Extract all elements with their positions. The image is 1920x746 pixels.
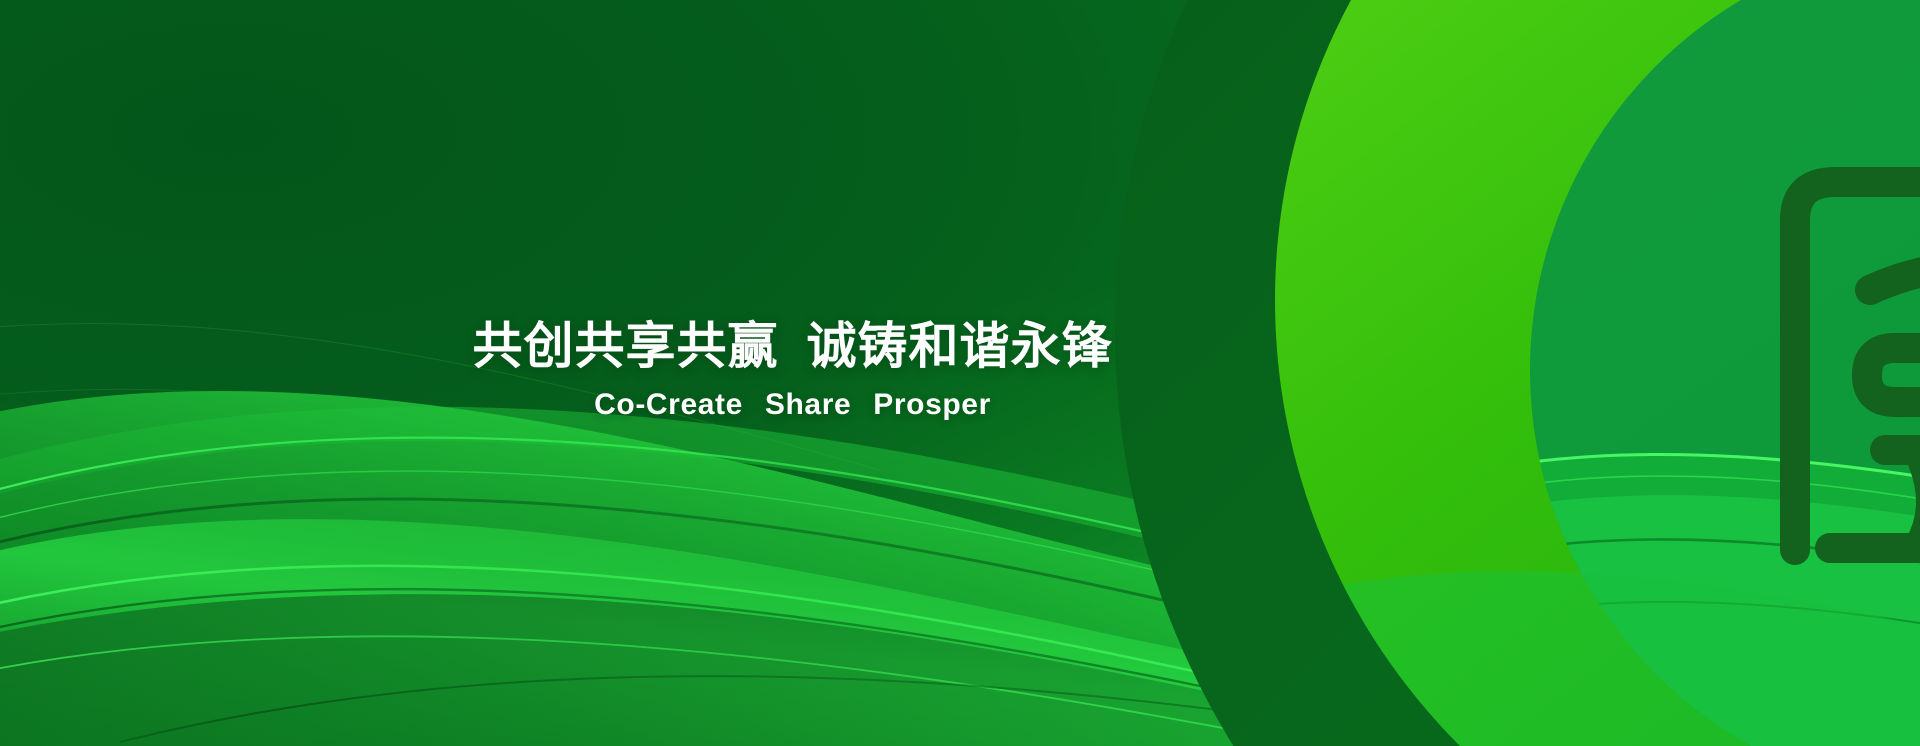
headline-part-2: 诚铸和谐永锋 <box>807 318 1113 374</box>
subtitle-word-2: Share <box>765 388 851 422</box>
page-subtitle: Co-CreateShareProsper <box>0 388 1585 422</box>
subtitle-word-3: Prosper <box>873 388 991 422</box>
page-title: 共创共享共赢诚铸和谐永锋 <box>0 318 1585 374</box>
headline-part-1: 共创共享共赢 <box>473 318 779 374</box>
culture-banner: 共创共享共赢诚铸和谐永锋 Co-CreateShareProsper <box>0 0 1920 746</box>
subtitle-word-1: Co-Create <box>594 388 743 422</box>
slogan-block: 共创共享共赢诚铸和谐永锋 Co-CreateShareProsper <box>0 318 1585 422</box>
